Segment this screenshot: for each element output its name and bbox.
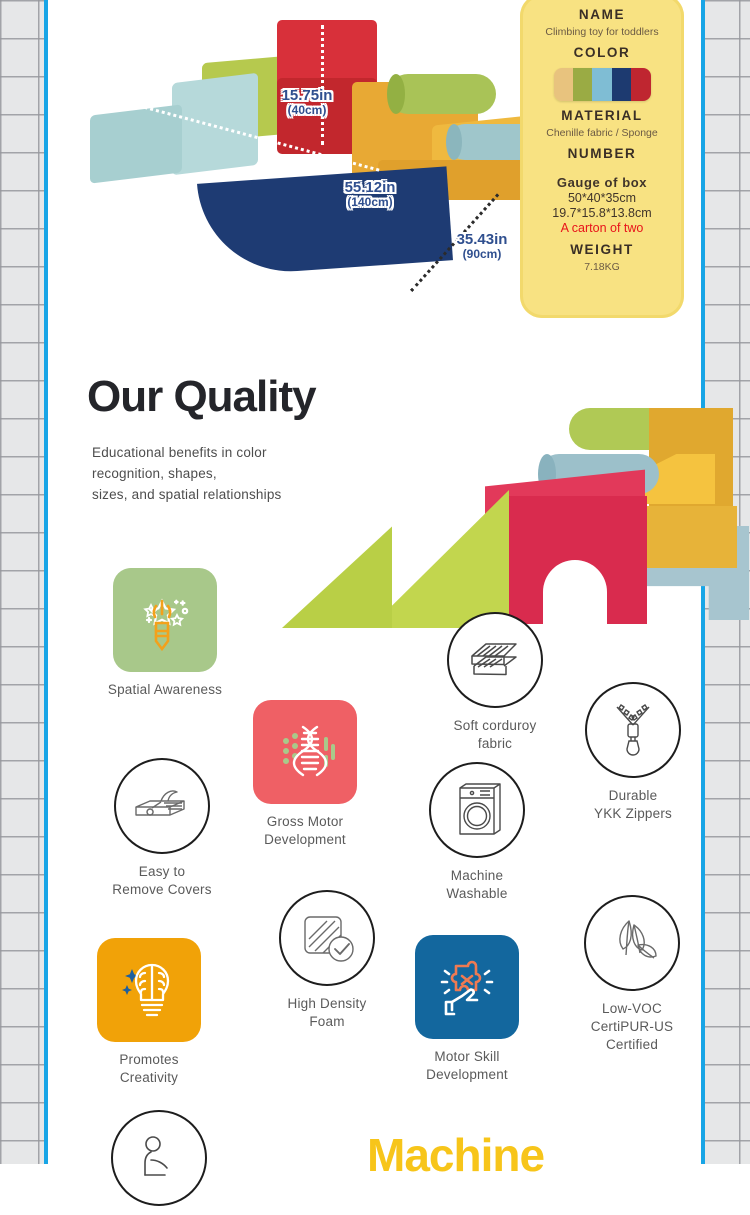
spec-gauge-title: Gauge of box xyxy=(520,175,684,190)
foam-check-icon xyxy=(279,890,375,986)
product-spec-card: NAME Climbing toy for toddlers COLOR MAT… xyxy=(520,0,684,318)
spec-carton-note: A carton of two xyxy=(520,221,684,235)
dimension-label-depth: 35.43in (90cm) xyxy=(436,232,528,260)
feature-durable-ykk-zippers: Durable YKK Zippers xyxy=(558,682,708,823)
peel-cover-icon xyxy=(114,758,210,854)
spec-gauge-line-1: 50*40*35cm xyxy=(520,191,684,205)
puzzle-hand-icon xyxy=(415,935,519,1039)
feature-motor-skill-development: Motor Skill Development xyxy=(392,935,542,1084)
feature-label: Low-VOC CertiPUR-US Certified xyxy=(557,1000,707,1053)
zipper-icon xyxy=(585,682,681,778)
dimension-label-width: 55.12in (140cm) xyxy=(324,180,416,208)
feature-label: Spatial Awareness xyxy=(90,681,240,699)
content-sheet: 15.75in (40cm) 55.12in (140cm) 35.43in (… xyxy=(52,0,698,1164)
stars-pencil-icon xyxy=(113,568,217,672)
color-swatch-olive xyxy=(573,68,592,101)
feature-spatial-awareness: Spatial Awareness xyxy=(90,568,240,699)
spec-color-heading: COLOR xyxy=(520,45,684,60)
color-swatch-tan xyxy=(554,68,573,101)
structure-ramp-green-upper xyxy=(389,490,509,628)
feature-label: Promotes Creativity xyxy=(74,1051,224,1087)
feature-label: Gross Motor Development xyxy=(230,813,380,849)
foam-roller-green xyxy=(388,74,496,114)
child-sitting-icon xyxy=(111,1110,207,1206)
feature-gross-motor-development: Gross Motor Development xyxy=(230,700,380,849)
graph-paper-left-margin xyxy=(0,0,48,1164)
feature-easy-remove-covers: Easy to Remove Covers xyxy=(87,758,237,899)
spec-number-heading: NUMBER xyxy=(520,146,684,161)
spec-material-value: Chenille fabric / Sponge xyxy=(520,127,684,139)
feature-high-density-foam: High Density Foam xyxy=(252,890,402,1031)
brain-bulb-icon xyxy=(97,938,201,1042)
spec-gauge-line-2: 19.7*15.8*13.8cm xyxy=(520,206,684,220)
spec-weight-heading: WEIGHT xyxy=(520,242,684,257)
feature-machine-washable: Machine Washable xyxy=(402,762,552,903)
structure-ramp-green-lower xyxy=(282,510,392,628)
spec-name-heading: NAME xyxy=(520,7,684,22)
spec-name-value: Climbing toy for toddlers xyxy=(520,26,684,38)
dna-helix-icon xyxy=(253,700,357,804)
play-structure-photo xyxy=(277,378,697,638)
color-swatch-strip xyxy=(554,68,651,101)
spec-material-heading: MATERIAL xyxy=(520,108,684,123)
dimension-leader-height xyxy=(321,25,324,145)
feature-label: Durable YKK Zippers xyxy=(558,787,708,823)
feature-label: High Density Foam xyxy=(252,995,402,1031)
leaves-icon xyxy=(584,895,680,991)
feature-label: Machine Washable xyxy=(402,867,552,903)
feature-label: Motor Skill Development xyxy=(392,1048,542,1084)
spec-weight-value: 7.18KG xyxy=(520,261,684,273)
foam-block-teal-step-lower xyxy=(90,104,182,183)
color-swatch-navy xyxy=(612,68,631,101)
folded-fabric-icon xyxy=(447,612,543,708)
washing-machine-icon xyxy=(429,762,525,858)
feature-label: Soft corduroy fabric xyxy=(420,717,570,753)
bottom-section-title: Machine xyxy=(367,1128,544,1182)
feature-soft-corduroy-fabric: Soft corduroy fabric xyxy=(420,612,570,753)
dimension-label-height: 15.75in (40cm) xyxy=(264,88,350,116)
feature-child-sitting xyxy=(84,1110,234,1215)
color-swatch-lightblue xyxy=(592,68,611,101)
color-swatch-red xyxy=(631,68,650,101)
feature-low-voc-certified: Low-VOC CertiPUR-US Certified xyxy=(557,895,707,1053)
feature-label: Easy to Remove Covers xyxy=(87,863,237,899)
structure-block-gold-lower xyxy=(647,506,737,568)
feature-promotes-creativity: Promotes Creativity xyxy=(74,938,224,1087)
